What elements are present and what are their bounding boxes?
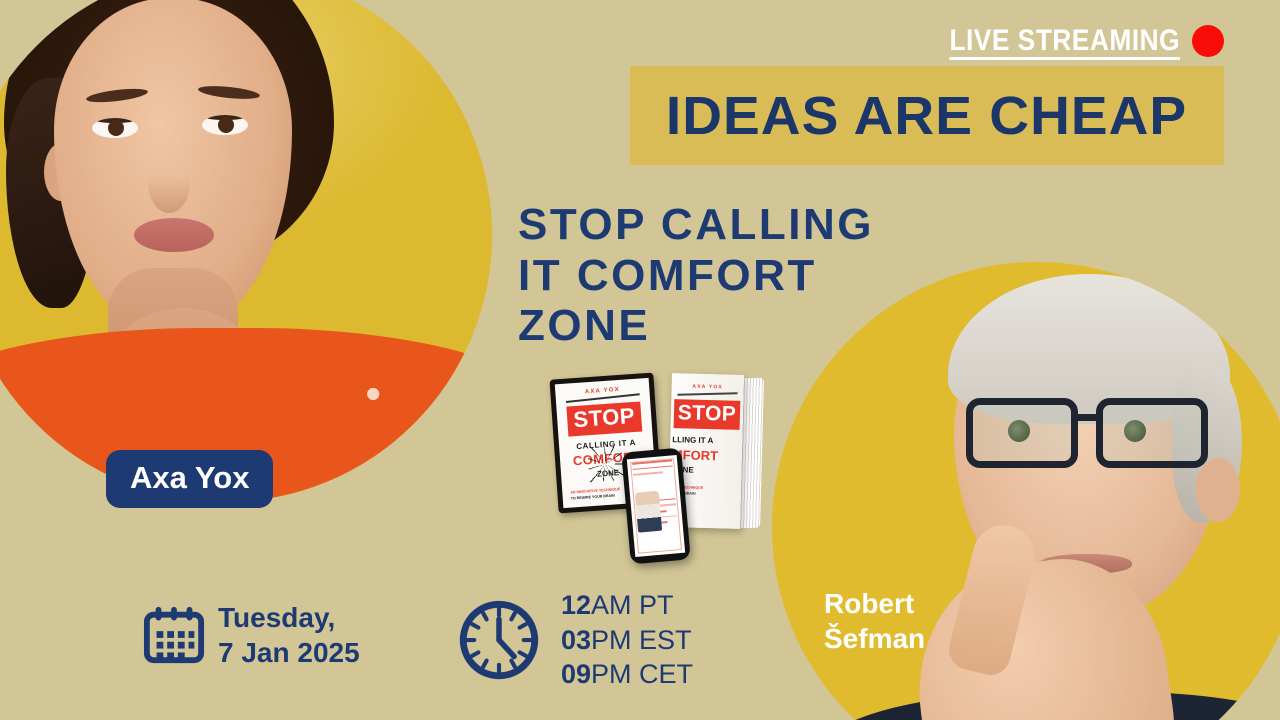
- clock-icon: [455, 596, 543, 684]
- lens-right: [1096, 398, 1208, 468]
- book-subtitle-line-1: LLING IT A: [672, 435, 742, 446]
- phone-screen-content: [627, 455, 685, 557]
- headline-line-1: STOP CALLING: [518, 200, 1038, 251]
- time-entry: 09PM CET: [561, 657, 693, 692]
- time-zone-suffix: PM EST: [591, 625, 692, 655]
- live-streaming-label: LIVE STREAMING: [949, 24, 1180, 58]
- event-date-block: Tuesday, 7 Jan 2025: [143, 600, 360, 670]
- book-stop-word: STOP: [674, 399, 741, 430]
- headline-line-2: IT COMFORT: [518, 251, 1038, 302]
- live-streaming-indicator: LIVE STREAMING: [918, 24, 1224, 58]
- time-zone-suffix: AM PT: [591, 590, 674, 620]
- book-divider-rule: [677, 392, 737, 396]
- book-mockup: AXA YOX STOP LLING IT A MFORT ZONE TIVE …: [548, 372, 780, 568]
- event-time-block: 12AM PT 03PM EST 09PM CET: [455, 588, 693, 692]
- time-entry: 03PM EST: [561, 623, 693, 658]
- show-title: IDEAS ARE CHEAP: [666, 85, 1187, 147]
- nose-shape: [148, 153, 190, 213]
- time-zone-suffix: PM CET: [591, 659, 693, 689]
- phone-device: [621, 448, 691, 565]
- event-date-line-1: Tuesday,: [218, 600, 360, 635]
- book-stop-word: STOP: [566, 402, 642, 437]
- eye-right: [202, 115, 248, 135]
- time-number: 03: [561, 625, 591, 655]
- event-time-list: 12AM PT 03PM EST 09PM CET: [561, 588, 693, 692]
- livestream-promo-poster: LIVE STREAMING IDEAS ARE CHEAP STOP CALL…: [0, 0, 1280, 720]
- eye-left: [1008, 420, 1030, 442]
- glasses-bridge: [1078, 414, 1098, 421]
- event-date-line-2: 7 Jan 2025: [218, 635, 360, 670]
- speaker-name-line-1: Robert: [824, 586, 925, 621]
- show-title-band: IDEAS ARE CHEAP: [630, 66, 1224, 165]
- phone-photo-thumbnail: [635, 491, 662, 533]
- eye-left: [92, 118, 138, 138]
- speaker-photo-axa-yox: [0, 0, 492, 502]
- live-indicator-dot: [1192, 25, 1224, 57]
- lips-shape: [134, 218, 214, 252]
- episode-headline: STOP CALLING IT COMFORT ZONE: [518, 200, 1038, 352]
- book-author-name: AXA YOX: [672, 383, 744, 391]
- headline-line-3: ZONE: [518, 301, 1038, 352]
- eye-right: [1124, 420, 1146, 442]
- time-entry: 12AM PT: [561, 588, 693, 623]
- calendar-icon: [143, 604, 205, 666]
- speaker-name-badge-axa-yox: Axa Yox: [106, 450, 273, 508]
- time-number: 12: [561, 590, 591, 620]
- eyeglasses-shape: [966, 398, 1222, 472]
- speaker-name-robert-sefman: Robert Šefman: [824, 586, 925, 656]
- event-date-text: Tuesday, 7 Jan 2025: [218, 600, 360, 670]
- speaker-name-line-2: Šefman: [824, 621, 925, 656]
- time-number: 09: [561, 659, 591, 689]
